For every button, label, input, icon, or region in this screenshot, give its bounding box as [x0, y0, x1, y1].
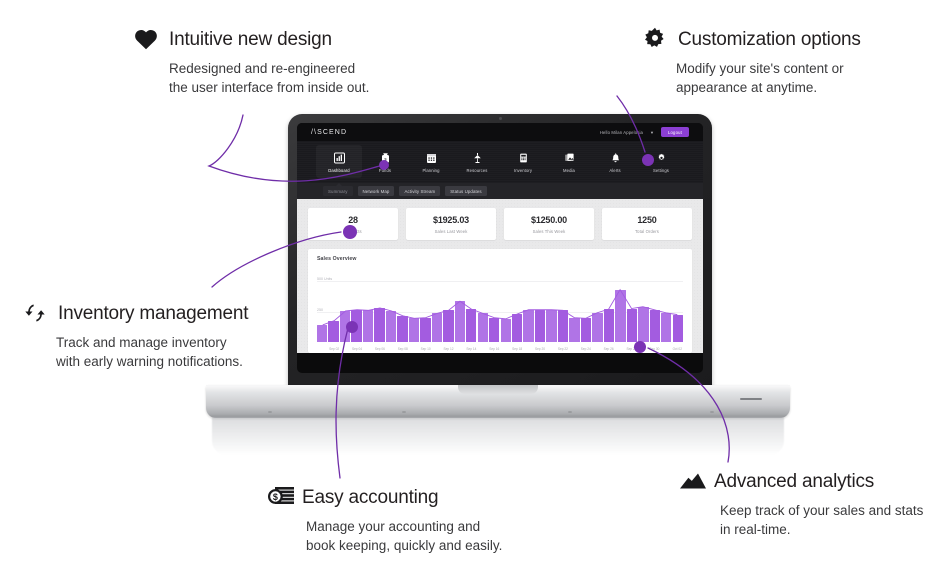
chart-x-tick: Sep 06	[374, 347, 385, 351]
feature-advanced-analytics: Advanced analytics Keep track of your sa…	[678, 468, 923, 539]
chart-trend-polyline	[323, 290, 678, 325]
chart-x-tick: Sep 22	[557, 347, 568, 351]
nav-item-resources[interactable]: Resources	[454, 145, 500, 173]
stat-card-sales-this-week[interactable]: $1250.00 Sales This Week	[504, 208, 594, 240]
nav-item-inventory[interactable]: Inventory	[500, 145, 546, 173]
feature-title: Easy accounting	[302, 488, 438, 507]
feature-heading: Advanced analytics	[678, 468, 923, 494]
account-greeting[interactable]: Hello Milan Appelosia	[600, 130, 643, 135]
stat-label: Products	[310, 229, 396, 234]
active-nav-arrow	[335, 183, 343, 187]
laptop-edge-line	[740, 398, 762, 400]
feature-body: Manage your accounting and book keeping,…	[306, 517, 502, 555]
feature-body: Modify your site's content or appearance…	[676, 59, 861, 97]
nav-item-settings[interactable]: Settings	[638, 145, 684, 173]
box-icon	[500, 150, 546, 165]
chart-x-tick: Sep 04	[351, 347, 362, 351]
feature-body: Keep track of your sales and stats in re…	[720, 501, 923, 539]
chart-x-tick: Sep 24	[580, 347, 591, 351]
stat-label: Sales Last Week	[408, 229, 494, 234]
laptop-lid: /\SCEND Hello Milan Appelosia ▼ Logout D…	[288, 114, 712, 389]
chart-x-tick: Sep 14	[466, 347, 477, 351]
nav-item-dashboard[interactable]: Dashboard	[316, 145, 362, 178]
feature-body: Redesigned and re-engineered the user in…	[169, 59, 369, 97]
laptop-screen: /\SCEND Hello Milan Appelosia ▼ Logout D…	[297, 123, 703, 373]
nav-label: Settings	[638, 168, 684, 173]
chart-x-tick: Sep 20	[534, 347, 545, 351]
chart-x-tick: .	[317, 347, 328, 351]
chart-x-tick: .	[454, 347, 465, 351]
chart-x-tick: .	[569, 347, 580, 351]
feature-inventory-management: Inventory management Track and manage in…	[22, 300, 248, 371]
nav-label: Resources	[454, 168, 500, 173]
sync-arrows-icon	[22, 300, 48, 326]
nav-label: Planning	[408, 168, 454, 173]
stat-value: $1250.00	[506, 215, 592, 225]
feature-heading: Customization options	[642, 26, 861, 52]
app-subtabs: Summary Network Map Activity Stream Stat…	[297, 183, 703, 199]
chart-trend-line	[317, 269, 683, 342]
svg-text:$: $	[273, 492, 278, 502]
photos-icon	[546, 150, 592, 165]
chart-x-tick: .	[477, 347, 488, 351]
chevron-down-icon[interactable]: ▼	[650, 130, 654, 135]
feature-title: Customization options	[678, 30, 861, 49]
chart-x-tick: Sep 28	[626, 347, 637, 351]
chart-x-tick: .	[431, 347, 442, 351]
gear-icon	[642, 26, 668, 52]
nav-item-media[interactable]: Media	[546, 145, 592, 173]
app-topbar: /\SCEND Hello Milan Appelosia ▼ Logout	[297, 123, 703, 141]
laptop-base	[206, 385, 790, 418]
webcam-dot	[499, 117, 502, 120]
stat-cards-row: 28 Products $1925.03 Sales Last Week $12…	[308, 208, 692, 240]
stat-label: Sales This Week	[506, 229, 592, 234]
laptop-mockup: /\SCEND Hello Milan Appelosia ▼ Logout D…	[206, 114, 790, 426]
feature-heading: $ Easy accounting	[266, 484, 502, 510]
nav-item-alerts[interactable]: Alerts	[592, 145, 638, 173]
feature-title: Intuitive new design	[169, 30, 332, 49]
feature-intuitive-new-design: Intuitive new design Redesigned and re-e…	[133, 26, 369, 97]
heart-icon	[133, 26, 159, 52]
calendar-icon	[408, 150, 454, 165]
feature-title: Advanced analytics	[714, 472, 874, 491]
nav-label: Alerts	[592, 168, 638, 173]
gear-icon	[638, 150, 684, 165]
tab-summary[interactable]: Summary	[323, 186, 353, 196]
stat-card-sales-last-week[interactable]: $1925.03 Sales Last Week	[406, 208, 496, 240]
promo-graphic: /\SCEND Hello Milan Appelosia ▼ Logout D…	[0, 0, 952, 576]
bar-chart-icon	[678, 468, 704, 494]
stat-card-products[interactable]: 28 Products	[308, 208, 398, 240]
feature-easy-accounting: $ Easy accounting Manage your accounting…	[266, 484, 502, 555]
sales-overview-chart-card: Sales Overview 500 Units250 .Sep 02.Sep …	[308, 249, 692, 353]
chart-x-tick: .	[614, 347, 625, 351]
laptop-notch	[458, 385, 538, 394]
chart-x-tick: .	[363, 347, 374, 351]
chart-x-tick: Sep 26	[603, 347, 614, 351]
chart-title: Sales Overview	[317, 256, 683, 262]
nav-item-planning[interactable]: Planning	[408, 145, 454, 173]
feature-heading: Intuitive new design	[133, 26, 369, 52]
app-main-nav: Dashboard $ Funds Planning	[297, 141, 703, 183]
chart-x-tick: .	[409, 347, 420, 351]
nav-label: Funds	[362, 168, 408, 173]
chart-x-tick: Sep 18	[511, 347, 522, 351]
bell-icon	[592, 150, 638, 165]
chart-x-tick: .	[546, 347, 557, 351]
tab-status-updates[interactable]: Status Updates	[445, 186, 486, 196]
money-bag-icon: $	[362, 150, 408, 165]
chart-bars-icon	[316, 150, 362, 165]
chart-x-tick: Sep 10	[420, 347, 431, 351]
feature-title: Inventory management	[58, 304, 248, 323]
chart-x-axis-labels: .Sep 02.Sep 04.Sep 06.Sep 08.Sep 10.Sep …	[317, 347, 683, 351]
chart-x-tick: .	[592, 347, 603, 351]
feature-heading: Inventory management	[22, 300, 248, 326]
tab-activity-stream[interactable]: Activity Stream	[399, 186, 440, 196]
stat-label: Total Orders	[604, 229, 690, 234]
chart-x-tick: .	[660, 347, 671, 351]
stat-value: 1250	[604, 215, 690, 225]
nav-label: Inventory	[500, 168, 546, 173]
nav-label: Media	[546, 168, 592, 173]
logout-button[interactable]: Logout	[661, 127, 689, 136]
chart-x-tick: .	[340, 347, 351, 351]
chart-x-tick: .	[500, 347, 511, 351]
laptop-foot	[710, 411, 714, 413]
chart-x-tick: .	[637, 347, 648, 351]
stat-card-total-orders[interactable]: 1250 Total Orders	[602, 208, 692, 240]
tab-network-map[interactable]: Network Map	[358, 186, 395, 196]
chart-x-tick: Sep 08	[397, 347, 408, 351]
feature-body: Track and manage inventory with early wa…	[56, 333, 248, 371]
stat-value: 28	[310, 215, 396, 225]
feature-customization-options: Customization options Modify your site's…	[642, 26, 861, 97]
money-stack-icon: $	[266, 484, 292, 510]
topbar-account-area: Hello Milan Appelosia ▼ Logout	[600, 127, 689, 136]
chart-x-tick: .	[523, 347, 534, 351]
nav-label: Dashboard	[316, 168, 362, 173]
stat-value: $1925.03	[408, 215, 494, 225]
chart-x-tick: Oct 02	[672, 347, 683, 351]
chart-x-tick: .	[386, 347, 397, 351]
chart-x-tick: Sep 12	[443, 347, 454, 351]
laptop-reflection	[212, 417, 784, 455]
dashboard-content: 28 Products $1925.03 Sales Last Week $12…	[297, 199, 703, 353]
chart-x-tick: Sep 30	[649, 347, 660, 351]
chart-x-tick: Sep 02	[328, 347, 339, 351]
lamp-icon	[454, 150, 500, 165]
app-logo[interactable]: /\SCEND	[311, 129, 347, 136]
chart-x-tick: Sep 16	[489, 347, 500, 351]
chart-plot-area: 500 Units250	[317, 269, 683, 342]
laptop-foot	[402, 411, 406, 413]
nav-item-funds[interactable]: $ Funds	[362, 145, 408, 173]
laptop-foot	[568, 411, 572, 413]
laptop-foot	[268, 411, 272, 413]
